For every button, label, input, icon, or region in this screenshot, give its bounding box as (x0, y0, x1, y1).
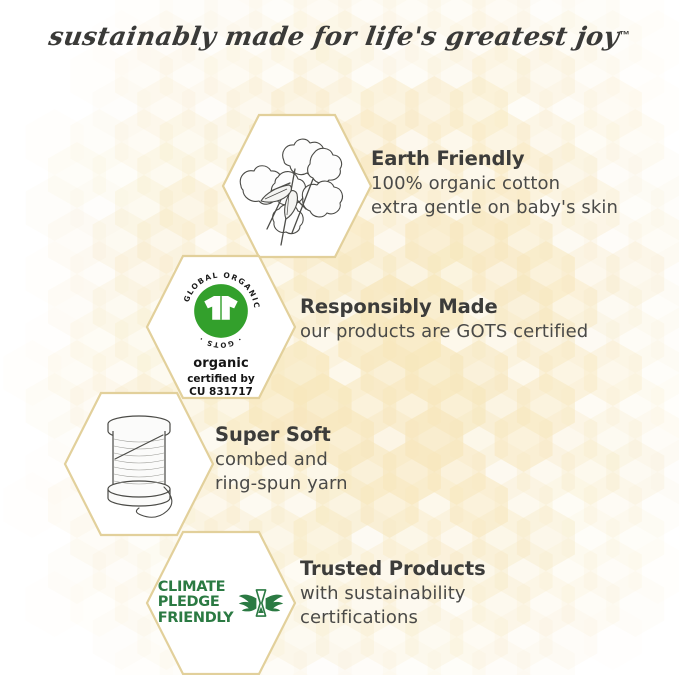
feature-line-2: extra gentle on baby's skin (371, 196, 618, 220)
page-title-text: sustainably made for life's greatest joy (47, 22, 622, 52)
feature-text-responsibly-made: Responsibly Made our products are GOTS c… (300, 294, 588, 344)
gots-organic-label: organic (193, 356, 249, 371)
feature-title: Trusted Products (300, 556, 486, 582)
product-features-infographic: sustainably made for life's greatest joy… (0, 0, 679, 675)
climate-pledge-friendly-icon: CLIMATE PLEDGE FRIENDLY (145, 530, 297, 675)
thread-spool-icon (63, 391, 215, 537)
cpf-word-climate: CLIMATE (158, 580, 234, 595)
page-title: sustainably made for life's greatest joy… (0, 22, 679, 52)
feature-line-1: combed and (215, 448, 348, 472)
cpf-word-friendly: FRIENDLY (158, 611, 234, 626)
feature-line-1: with sustainability (300, 582, 486, 606)
feature-text-earth-friendly: Earth Friendly 100% organic cotton extra… (371, 146, 618, 220)
feature-text-super-soft: Super Soft combed and ring-spun yarn (215, 422, 348, 496)
feature-line-1: our products are GOTS certified (300, 320, 588, 344)
feature-line-2: certifications (300, 606, 486, 630)
feature-title: Responsibly Made (300, 294, 588, 320)
feature-line-1: 100% organic cotton (371, 172, 618, 196)
winged-hourglass-icon (238, 580, 284, 626)
feature-text-trusted-products: Trusted Products with sustainability cer… (300, 556, 486, 630)
gots-certified-by-label: certified by (187, 373, 255, 386)
climate-pledge-friendly-wordmark: CLIMATE PLEDGE FRIENDLY (158, 580, 234, 626)
trademark-symbol: ™ (619, 30, 630, 42)
feature-line-2: ring-spun yarn (215, 472, 348, 496)
feature-title: Super Soft (215, 422, 348, 448)
cpf-word-pledge: PLEDGE (158, 595, 234, 610)
gots-organic-certification-icon: GLOBAL ORGANIC TEXTILE STANDARD · GOTS ·… (145, 254, 297, 400)
feature-title: Earth Friendly (371, 146, 618, 172)
cotton-plant-icon (221, 113, 373, 259)
